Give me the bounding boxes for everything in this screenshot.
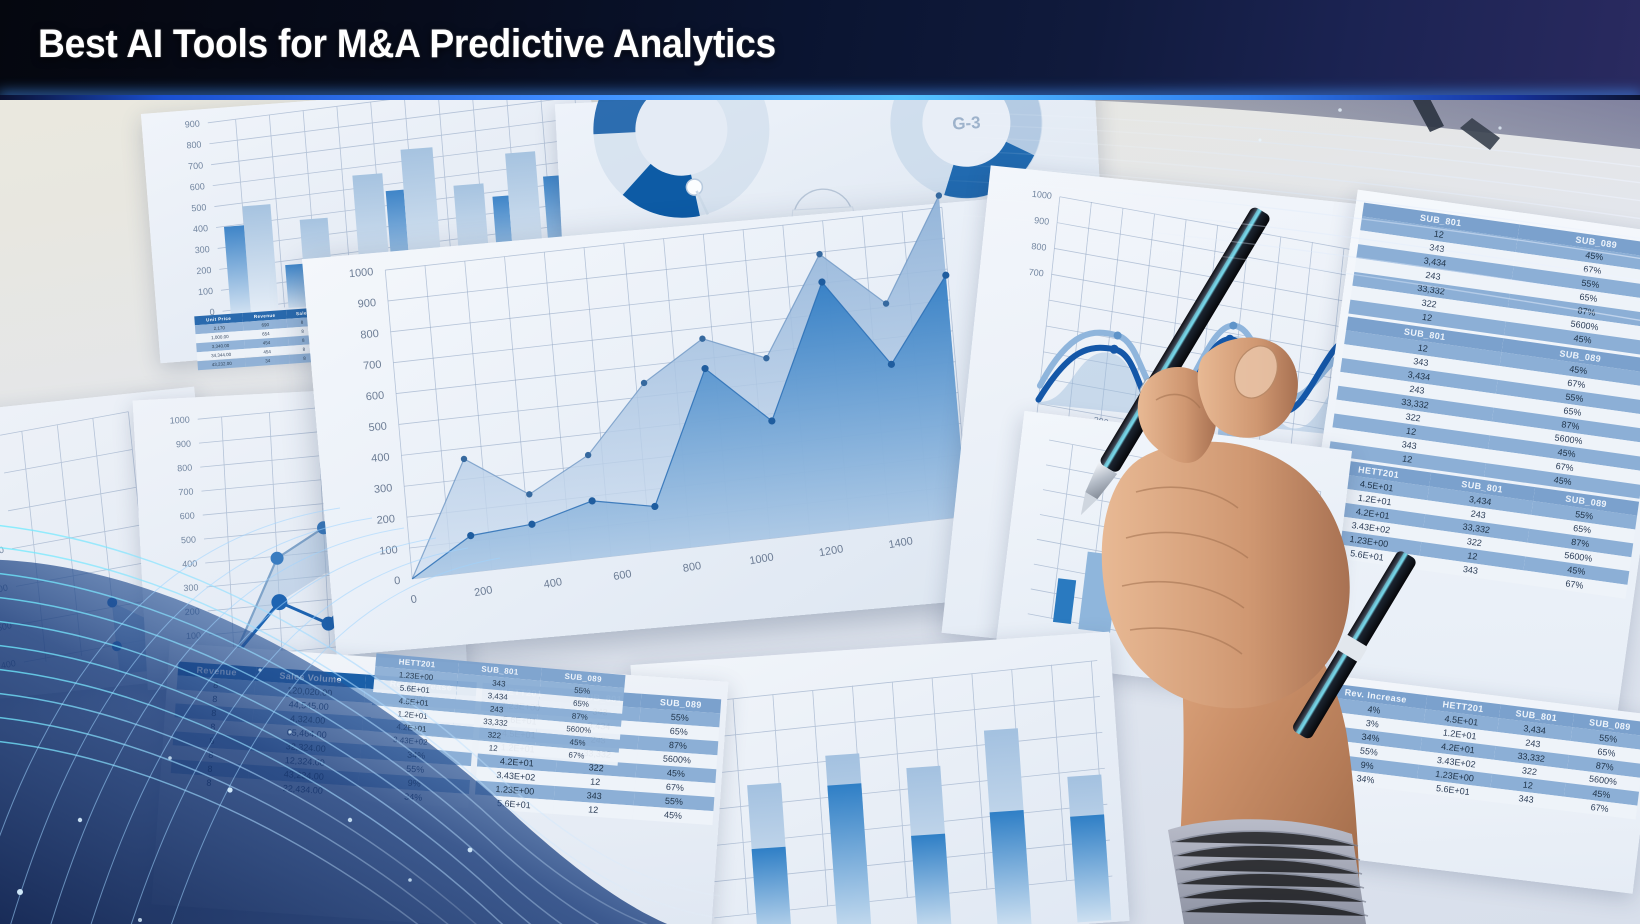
svg-text:800: 800 [177, 463, 193, 474]
table-cell: 43,232.00 [197, 358, 246, 370]
svg-text:900: 900 [176, 439, 192, 450]
banner-glow-line [0, 95, 1640, 100]
poster-canvas: 1000 900 800 700 600 500 400 [0, 0, 1640, 924]
svg-text:700: 700 [188, 160, 204, 171]
svg-text:400: 400 [193, 223, 209, 234]
svg-text:600: 600 [189, 181, 205, 192]
hand-holding-pen [1060, 230, 1420, 924]
svg-text:1000: 1000 [169, 415, 190, 426]
svg-text:300: 300 [194, 244, 210, 255]
svg-text:800: 800 [186, 139, 202, 150]
svg-text:500: 500 [191, 202, 207, 213]
svg-text:400: 400 [371, 451, 390, 465]
svg-text:1000: 1000 [749, 551, 775, 567]
svg-text:800: 800 [360, 328, 379, 342]
svg-text:900: 900 [357, 297, 376, 311]
svg-text:600: 600 [365, 390, 384, 404]
table-cell: 34 [246, 355, 290, 367]
svg-text:100: 100 [198, 286, 214, 297]
title-banner: Best AI Tools for M&A Predictive Analyti… [0, 0, 1640, 100]
wave-overlay-bottom-left [0, 520, 720, 924]
unit-price-table-wrap: Unit PriceRevenueSale2,17069081,000.0065… [194, 308, 319, 370]
svg-text:500: 500 [368, 421, 387, 435]
unit-price-table: Unit PriceRevenueSale2,17069081,000.0065… [194, 308, 319, 370]
svg-text:1200: 1200 [818, 543, 844, 559]
svg-text:700: 700 [178, 487, 194, 498]
svg-text:1400: 1400 [888, 535, 914, 551]
svg-text:800: 800 [0, 507, 1, 520]
svg-text:200: 200 [196, 265, 212, 276]
page-title: Best AI Tools for M&A Predictive Analyti… [38, 22, 776, 67]
svg-text:1000: 1000 [348, 266, 373, 280]
svg-text:700: 700 [363, 359, 382, 373]
svg-text:300: 300 [373, 482, 392, 496]
svg-text:900: 900 [184, 118, 200, 129]
